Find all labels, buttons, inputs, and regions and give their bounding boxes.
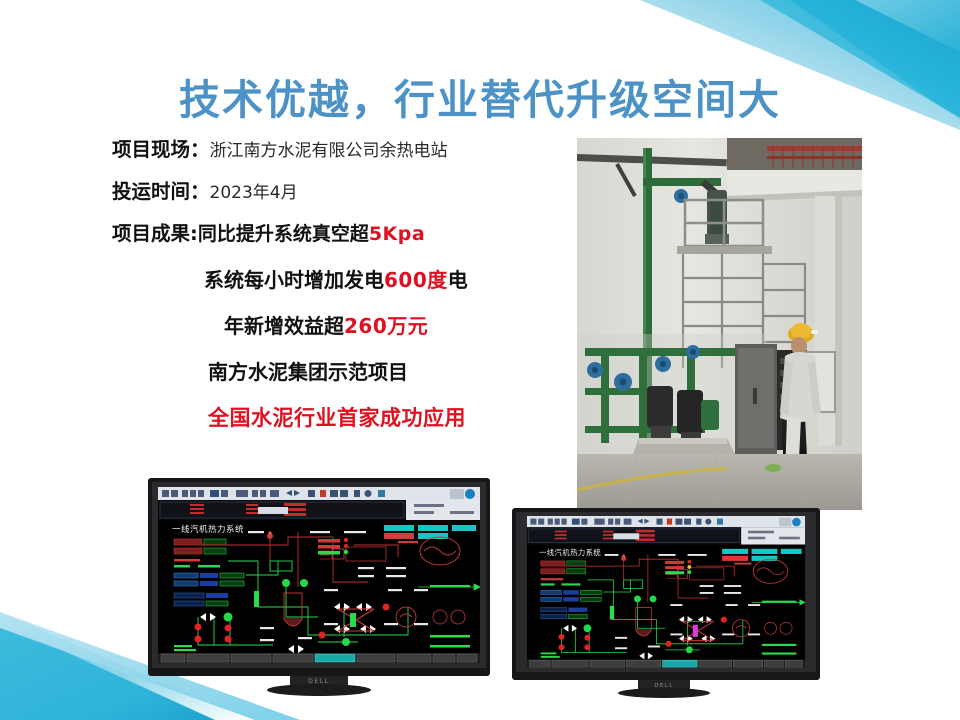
svg-text:一线汽机热力系统: 一线汽机热力系统 [172, 524, 244, 535]
commission-date-label: 投运时间： [112, 180, 210, 203]
demo-project-line: 南方水泥集团示范项目 [208, 362, 408, 382]
commission-date-value: 2023年4月 [210, 183, 298, 203]
commission-date-line: 投运时间：2023年4月 [112, 182, 298, 202]
scada-monitor-right: DELL [512, 508, 820, 704]
project-result-prefix: 同比提升系统真空超 [198, 223, 369, 245]
svg-text:一线汽机热力系统: 一线汽机热力系统 [539, 548, 601, 557]
power-increase-highlight: 600度 [384, 268, 448, 292]
project-result-line: 项目成果:同比提升系统真空超5Kpa [112, 224, 425, 244]
demo-project-text: 南方水泥集团示范项目 [208, 360, 408, 384]
annual-benefit-prefix: 年新增效益超 [224, 314, 344, 338]
project-result-highlight: 5Kpa [369, 223, 425, 245]
svg-text:DELL: DELL [308, 678, 330, 685]
slide-canvas: 技术优越，行业替代升级空间大 项目现场：浙江南方水泥有限公司余热电站 投运时间：… [0, 0, 960, 720]
first-application-line: 全国水泥行业首家成功应用 [208, 408, 466, 429]
project-result-label: 项目成果: [112, 222, 198, 245]
svg-text:DELL: DELL [654, 683, 673, 689]
page-title: 技术优越，行业替代升级空间大 [0, 66, 960, 126]
project-site-label: 项目现场： [112, 138, 210, 161]
power-increase-line: 系统每小时增加发电600度电 [204, 270, 468, 290]
annual-benefit-highlight: 260万元 [344, 314, 428, 338]
annual-benefit-line: 年新增效益超260万元 [224, 316, 428, 336]
site-photo [577, 138, 862, 510]
project-site-line: 项目现场：浙江南方水泥有限公司余热电站 [112, 140, 448, 160]
project-site-value: 浙江南方水泥有限公司余热电站 [210, 141, 448, 161]
power-increase-suffix: 电 [448, 268, 468, 292]
scada-monitor-left: DELL [148, 478, 490, 703]
first-application-text: 全国水泥行业首家成功应用 [208, 406, 466, 430]
power-increase-prefix: 系统每小时增加发电 [204, 268, 384, 292]
